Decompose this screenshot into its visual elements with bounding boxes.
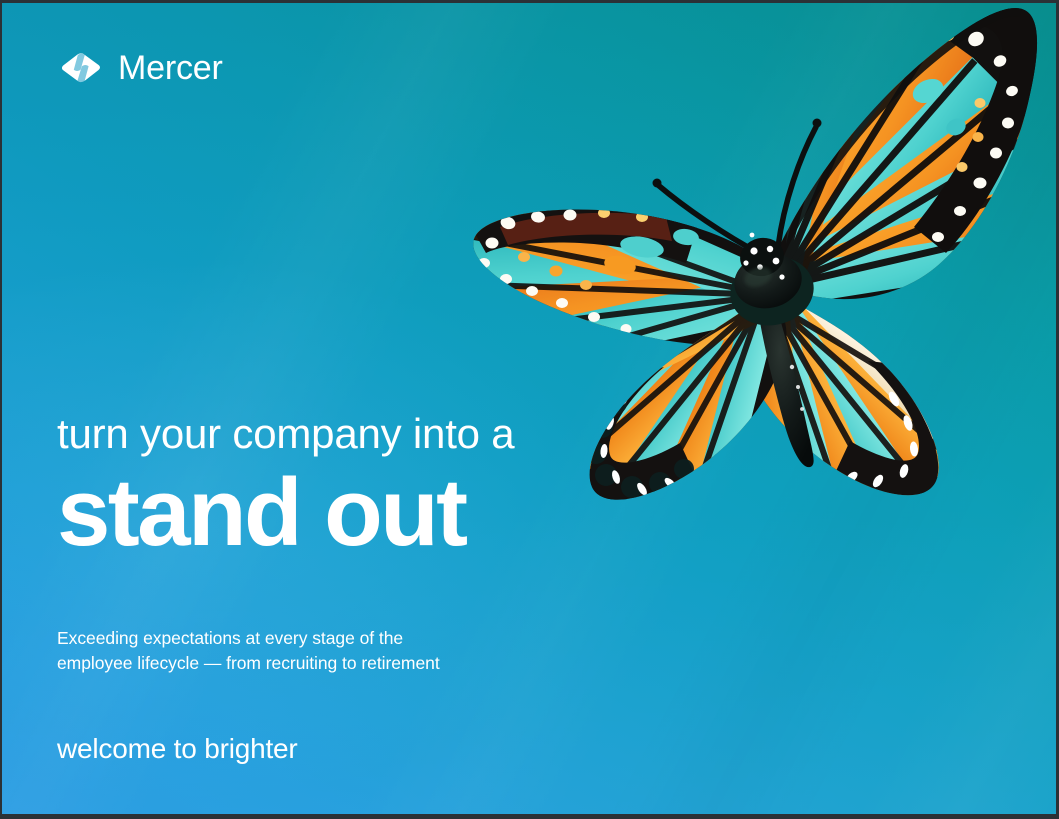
hero-subcopy-line-1: Exceeding expectations at every stage of… [57,626,440,651]
hero-headline: stand out [57,465,466,561]
mercer-logo-icon [57,52,105,84]
presentation-slide: Mercer turn your company into a stand ou… [0,0,1059,819]
hero-kicker: turn your company into a [57,412,514,456]
hero-copy: turn your company into a stand out Excee… [2,3,1056,814]
mercer-logo[interactable]: Mercer [57,51,223,85]
hero-subcopy-line-2: employee lifecycle — from recruiting to … [57,651,440,676]
mercer-wordmark: Mercer [118,51,223,85]
hero-subcopy: Exceeding expectations at every stage of… [57,626,440,677]
hero-tagline: welcome to brighter [57,735,298,763]
